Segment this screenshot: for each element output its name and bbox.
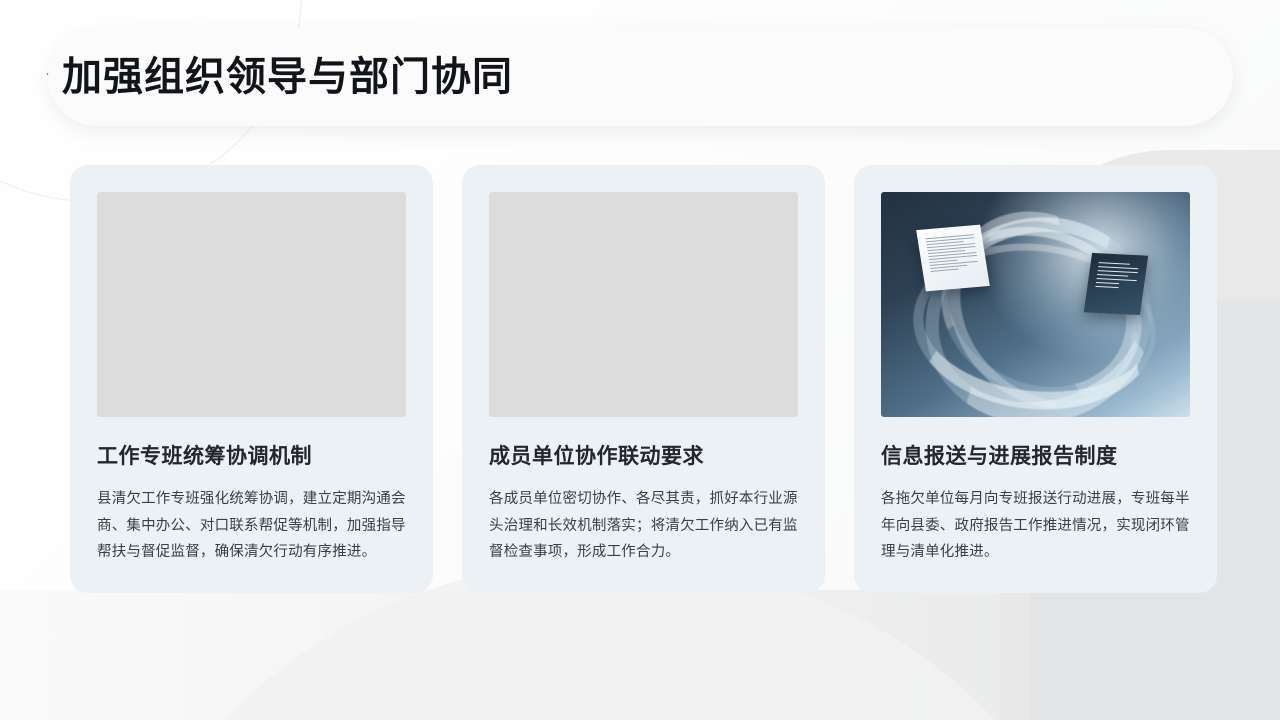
photo-background	[881, 192, 1190, 417]
card-title: 信息报送与进展报告制度	[881, 444, 1190, 469]
card-title: 工作专班统筹协调机制	[97, 444, 406, 469]
card-body-text: 各拖欠单位每月向专班报送行动进展，专班每半年向县委、政府报告工作推进情况，实现闭…	[881, 486, 1190, 565]
background-bottom-band	[0, 590, 1280, 720]
documents-ribbon-photo	[881, 192, 1190, 417]
card-image-placeholder	[97, 192, 406, 417]
slide-title-bar: 加强组织领导与部门协同	[48, 28, 1233, 126]
card-body-text: 县清欠工作专班强化统筹协调，建立定期沟通会商、集中办公、对口联系帮促等机制，加强…	[97, 486, 406, 565]
content-card[interactable]: 工作专班统筹协调机制 县清欠工作专班强化统筹协调，建立定期沟通会商、集中办公、对…	[70, 165, 433, 593]
card-list: 工作专班统筹协调机制 县清欠工作专班强化统筹协调，建立定期沟通会商、集中办公、对…	[70, 165, 1218, 593]
card-title: 成员单位协作联动要求	[489, 444, 798, 469]
content-card[interactable]: 信息报送与进展报告制度 各拖欠单位每月向专班报送行动进展，专班每半年向县委、政府…	[854, 165, 1217, 593]
card-image-placeholder	[489, 192, 798, 417]
card-body-text: 各成员单位密切协作、各尽其责，抓好本行业源头治理和长效机制落实；将清欠工作纳入已…	[489, 486, 798, 565]
slide-canvas: 加强组织领导与部门协同 工作专班统筹协调机制 县清欠工作专班强化统筹协调，建立定…	[0, 0, 1280, 720]
document-sheet-dark-icon	[1084, 253, 1148, 315]
content-card[interactable]: 成员单位协作联动要求 各成员单位密切协作、各尽其责，抓好本行业源头治理和长效机制…	[462, 165, 825, 593]
page-title: 加强组织领导与部门协同	[62, 57, 513, 97]
document-sheet-light-icon	[916, 225, 990, 292]
